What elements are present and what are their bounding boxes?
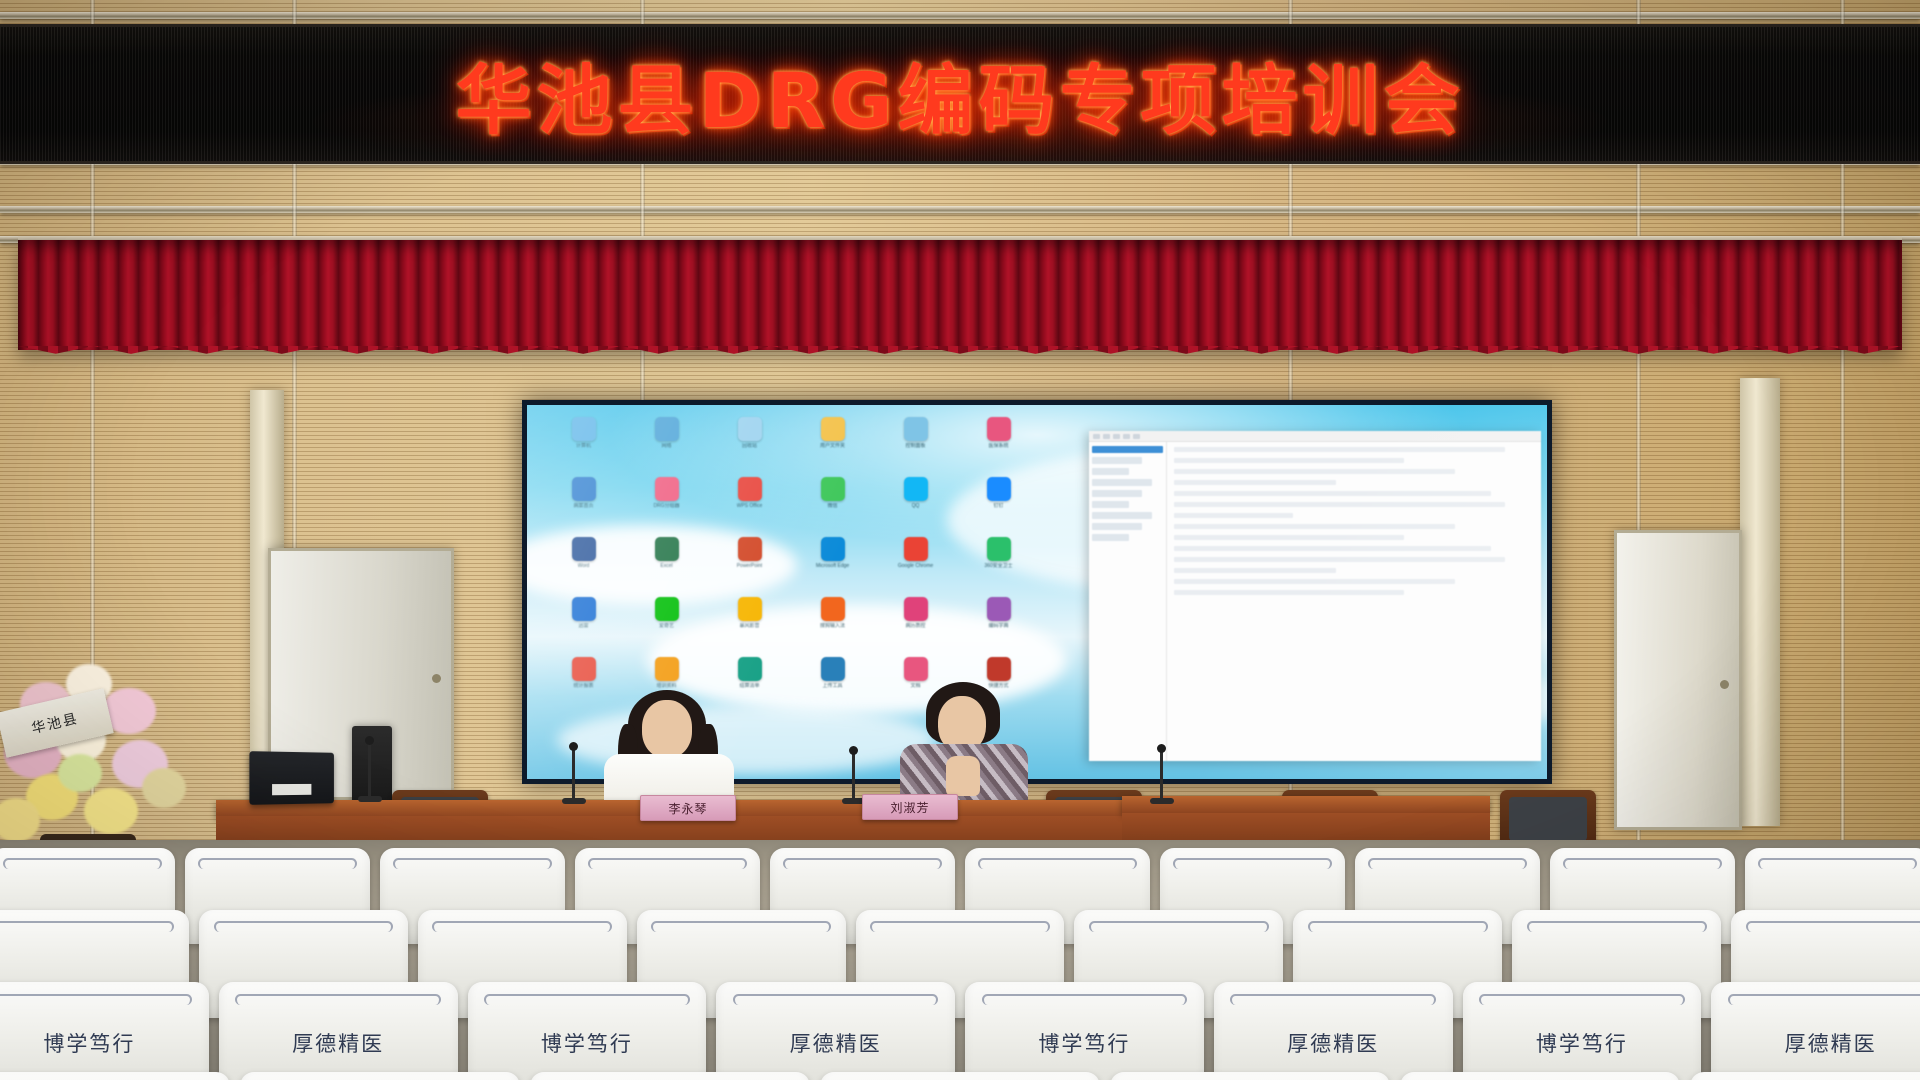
audience-member-head [1556, 982, 1607, 992]
audience-member-face [74, 982, 106, 985]
audience-member-face [70, 910, 98, 913]
audience-member-head [64, 982, 115, 992]
audience-seat[interactable]: 厚德精医 [820, 1072, 1100, 1080]
audience-member-face [322, 982, 354, 985]
audience-member-head [1233, 848, 1273, 856]
audience-member-face [946, 910, 974, 913]
audience-member-head [1156, 910, 1201, 919]
audience-member-head [258, 848, 298, 856]
audience-seat[interactable]: 厚德精医 [1711, 982, 1920, 1080]
audience-seat[interactable]: 博学笃行 [468, 982, 707, 1080]
audience-member-head [648, 848, 688, 856]
seat-cover-text: 厚德精医 [1785, 1028, 1877, 1058]
audience-seat-row: 博学笃行厚德精医博学笃行厚德精医博学笃行厚德精医博学笃行厚德精医 [0, 982, 1920, 1080]
audience-member-face [1435, 848, 1460, 851]
audience-member-head [313, 982, 364, 992]
seat-cover-text: 博学笃行 [541, 1028, 633, 1058]
audience-member-face [1165, 910, 1193, 913]
audience-member-face [655, 848, 680, 851]
audience-seat[interactable]: 博学笃行 [965, 982, 1204, 1080]
audience-member-face [1566, 982, 1598, 985]
audience-member-head [1818, 848, 1858, 856]
led-banner-text: 华池县DRG编码专项培训会 [0, 39, 1920, 149]
audience-member-face [1069, 982, 1101, 985]
audience-member-face [1812, 1072, 1848, 1076]
audience-member-head [1813, 910, 1858, 919]
audience-member-head [561, 982, 612, 992]
audience-seat[interactable]: 厚德精医 [219, 982, 458, 1080]
audience-member-head [810, 982, 861, 992]
audience-member-face [508, 910, 536, 913]
audience-member-face [1603, 910, 1631, 913]
audience-member-face [1825, 848, 1850, 851]
audience-seat[interactable]: 厚德精医 [716, 982, 955, 1080]
seat-cover-text: 厚德精医 [292, 1028, 384, 1058]
audience-member-head [62, 910, 107, 919]
led-banner-board: 华池县DRG编码专项培训会 [0, 24, 1920, 164]
audience-member-head [1308, 982, 1359, 992]
audience-member-face [265, 848, 290, 851]
audience-member-head [1221, 1072, 1279, 1080]
audience-member-head [1059, 982, 1110, 992]
audience-member-face [942, 1072, 978, 1076]
audience-member-head [453, 848, 493, 856]
audience-member-head [351, 1072, 409, 1080]
audience-member-face [1630, 848, 1655, 851]
seat-cover-text: 厚德精医 [1287, 1028, 1379, 1058]
audience-member-head [500, 910, 545, 919]
audience-member-head [1623, 848, 1663, 856]
seat-cover-text: 博学笃行 [1536, 1028, 1628, 1058]
audience-seat-row: 厚德精医厚德精医厚德精医厚德精医厚德精医厚德精医厚德精医 [0, 1072, 1920, 1080]
audience-member-head [843, 848, 883, 856]
audience-member-head [1038, 848, 1078, 856]
audience-seat[interactable]: 博学笃行 [1463, 982, 1702, 1080]
audience-seat[interactable]: 博学笃行 [0, 982, 209, 1080]
audience-member-face [727, 910, 755, 913]
audience-member-head [938, 910, 983, 919]
audience-member-face [820, 982, 852, 985]
seat-cover-text: 厚德精医 [790, 1028, 882, 1058]
audience-member-face [1232, 1072, 1268, 1076]
audience-member-head [641, 1072, 699, 1080]
audience-member-face [1815, 982, 1847, 985]
conference-hall-photo: 华池县DRG编码专项培训会 计算机网络回收站用户文件夹控制面板医保系统病案首页D… [0, 0, 1920, 1080]
audience-member-face [72, 1072, 108, 1076]
audience-member-head [1428, 848, 1468, 856]
audience-area: 博学笃行厚德精医博学笃行厚德精医博学笃行厚德精医博学笃行厚德精医厚德精医厚德精医… [0, 840, 1920, 1080]
audience-seat[interactable]: 厚德精医 [1400, 1072, 1680, 1080]
audience-member-face [70, 848, 95, 851]
audience-seat[interactable]: 厚德精医 [530, 1072, 810, 1080]
audience-seat[interactable]: 厚德精医 [1690, 1072, 1920, 1080]
audience-member-face [1384, 910, 1412, 913]
audience-seat[interactable]: 厚德精医 [240, 1072, 520, 1080]
audience-seat[interactable]: 厚德精医 [1110, 1072, 1390, 1080]
audience-member-face [460, 848, 485, 851]
audience-member-head [719, 910, 764, 919]
audience-member-head [1594, 910, 1639, 919]
audience-seat[interactable]: 厚德精医 [0, 1072, 230, 1080]
audience-member-head [61, 1072, 119, 1080]
audience-member-face [1522, 1072, 1558, 1076]
audience-member-face [850, 848, 875, 851]
audience-member-head [1511, 1072, 1569, 1080]
audience-seat[interactable]: 厚德精医 [1214, 982, 1453, 1080]
audience-member-face [1317, 982, 1349, 985]
audience-member-face [1045, 848, 1070, 851]
audience-member-face [652, 1072, 688, 1076]
audience-member-head [63, 848, 103, 856]
audience-member-head [1375, 910, 1420, 919]
audience-member-face [1822, 910, 1850, 913]
audience-member-head [1805, 982, 1856, 992]
audience-member-head [1801, 1072, 1859, 1080]
audience-member-head [931, 1072, 989, 1080]
seat-cover-text: 博学笃行 [1038, 1028, 1130, 1058]
seat-cover-text: 博学笃行 [43, 1028, 135, 1058]
audience-member-face [362, 1072, 398, 1076]
audience-member-face [289, 910, 317, 913]
audience-member-face [1240, 848, 1265, 851]
audience-member-face [571, 982, 603, 985]
audience-member-head [281, 910, 326, 919]
